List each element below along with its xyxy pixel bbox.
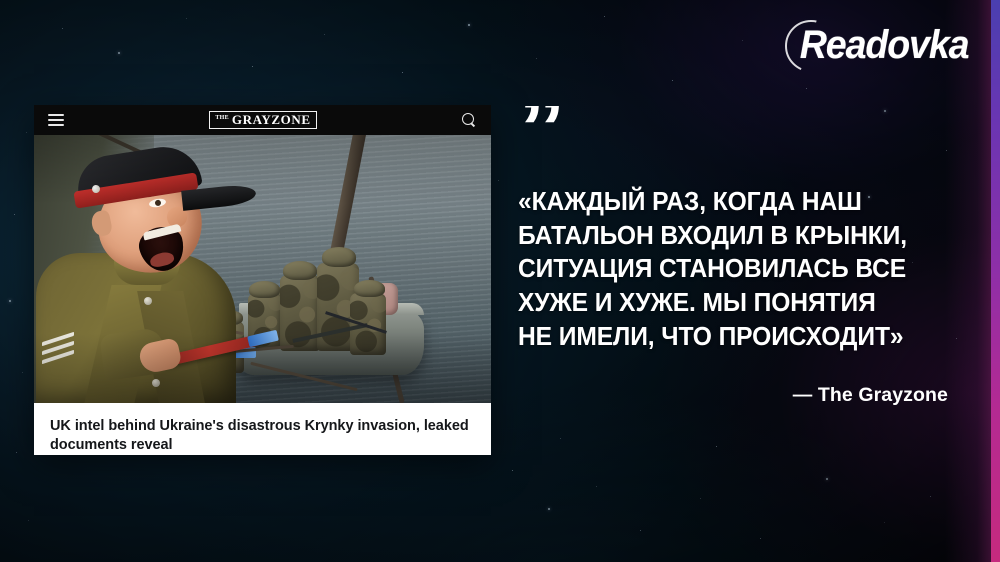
promo-image-canvas: Readovka THE GRAYZONE (0, 0, 1000, 562)
grayzone-site-header: THE GRAYZONE (34, 105, 491, 135)
search-icon[interactable] (462, 113, 477, 128)
readovka-wordmark: Readovka (799, 25, 968, 65)
quote-block: ” «Каждый раз, когда наш батальон входил… (518, 106, 950, 407)
quotation-mark-icon: ” (518, 106, 950, 152)
article-photo (34, 135, 491, 403)
right-edge-accent-strip (991, 0, 1000, 562)
readovka-logo: Readovka (789, 22, 968, 68)
grayzone-logo-name: GRAYZONE (232, 113, 311, 127)
quote-text: «Каждый раз, когда наш батальон входил в… (518, 186, 935, 354)
photo-shading (34, 135, 491, 403)
article-screenshot-card: THE GRAYZONE (34, 105, 491, 455)
hamburger-menu-icon[interactable] (48, 114, 64, 126)
right-edge-glow (945, 0, 991, 562)
article-headline-area: UK intel behind Ukraine's disastrous Kry… (34, 403, 491, 455)
grayzone-logo-prefix: THE (215, 115, 229, 121)
grayzone-logo[interactable]: THE GRAYZONE (209, 111, 316, 130)
article-headline: UK intel behind Ukraine's disastrous Kry… (50, 417, 475, 455)
quote-attribution: — The Grayzone (518, 384, 950, 407)
